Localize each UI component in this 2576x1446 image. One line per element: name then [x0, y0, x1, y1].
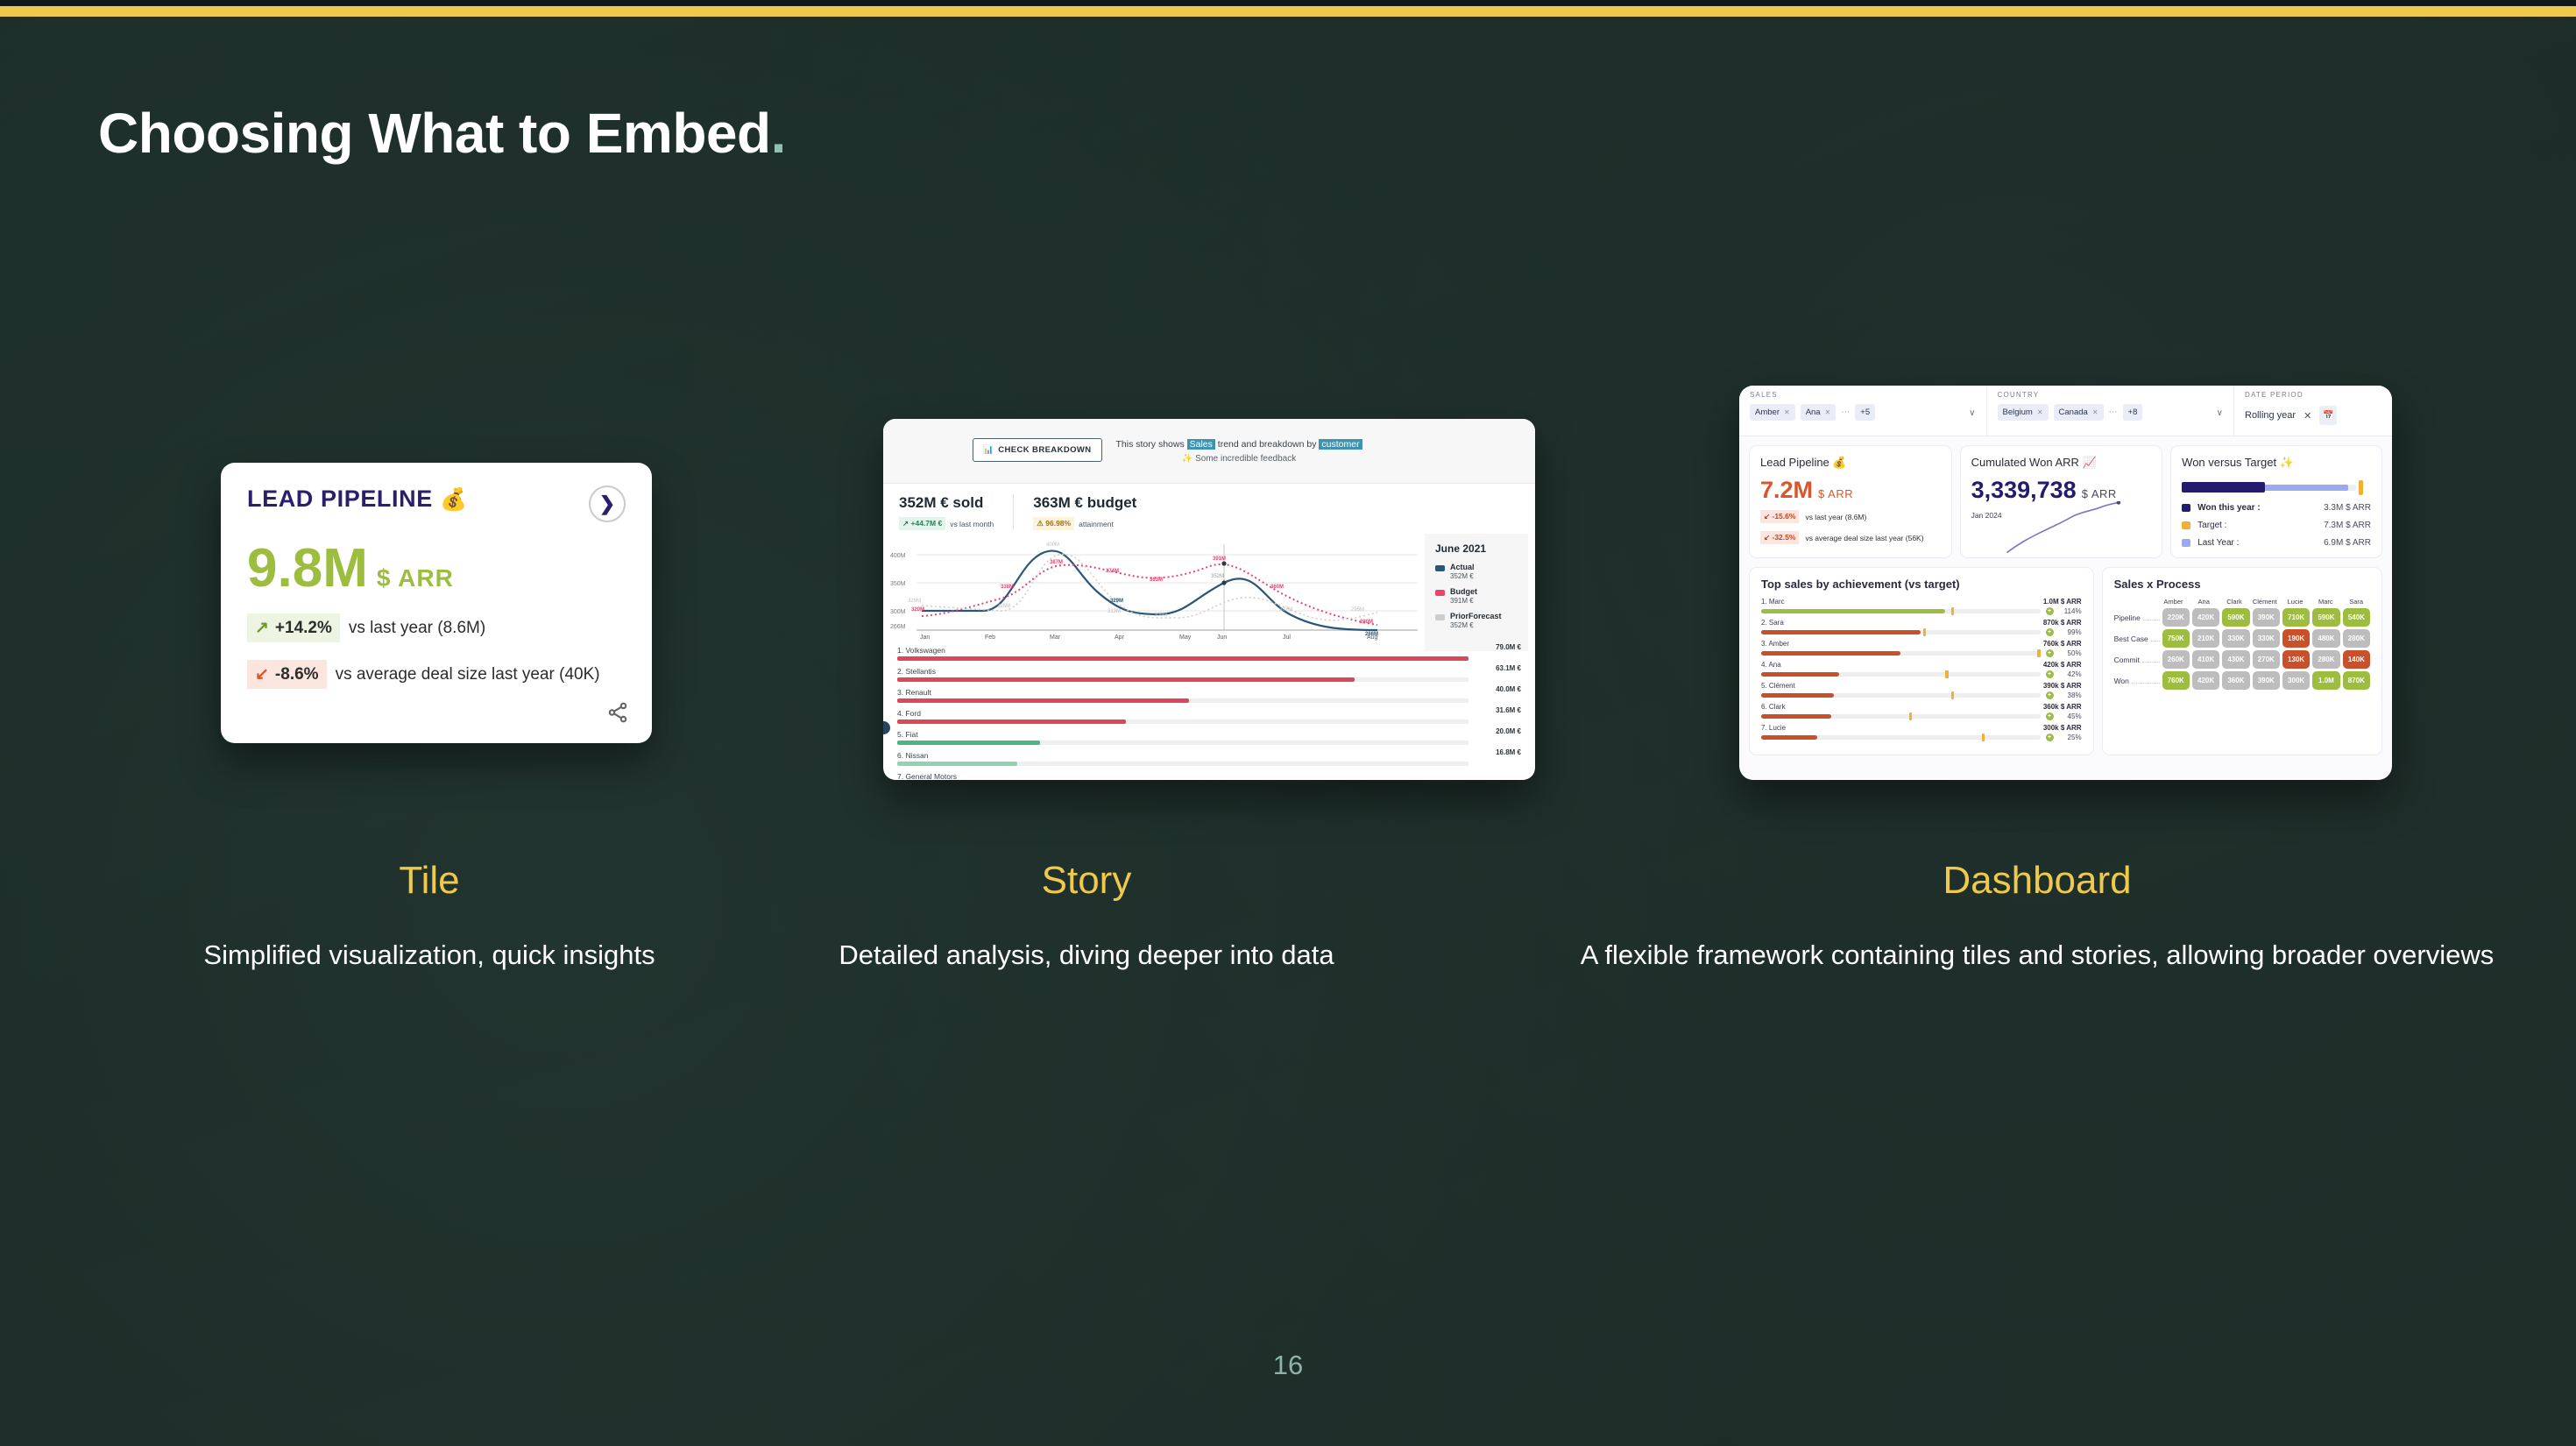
filter-date-value: Rolling year — [2245, 410, 2296, 421]
svg-text:400M: 400M — [1046, 542, 1059, 548]
panel-sales-x-process[interactable]: Sales x Process AmberAnaClarkClémentLuci… — [2102, 567, 2382, 755]
tile-lead-pipeline-delta-1-value: -15.6% — [1773, 512, 1796, 521]
page-title-text: Choosing What to Embed — [98, 102, 771, 165]
top-sales-row-head: 1. Marc1.0M $ ARR — [1761, 598, 2082, 606]
matrix-row-dotline — [2143, 620, 2160, 620]
story-bar-track — [897, 741, 1468, 745]
matrix-cell[interactable]: 1.0M — [2312, 671, 2339, 690]
page-title-dot: . — [771, 102, 786, 165]
svg-text:329M: 329M — [908, 599, 921, 604]
top-sales-fill — [1761, 735, 1817, 740]
story-kpi-budget-value: 363M € budget — [1033, 494, 1136, 512]
plus-icon[interactable]: + — [2046, 628, 2054, 636]
svg-text:329M: 329M — [1110, 599, 1123, 604]
page-number: 16 — [0, 1350, 2576, 1381]
svg-text:280M: 280M — [1360, 620, 1373, 625]
chart-increasing-icon: 📈 — [2083, 456, 2097, 469]
legend-name-actual: Actual — [1450, 563, 1475, 571]
matrix-column-header: Amber — [2160, 598, 2188, 606]
tile-cumulated-unit: $ ARR — [2082, 488, 2117, 500]
filter-sales-chips: Amber✕ Ana✕ ⋯ +5 — [1750, 404, 1976, 421]
arrow-down-icon: ↙ — [1764, 512, 1770, 521]
tile-delta-up-value: +14.2% — [275, 619, 332, 638]
top-sales-row: 3. Amber760k $ ARR+50% — [1761, 640, 2082, 657]
warning-icon: ⚠ — [1037, 519, 1044, 528]
matrix-cell[interactable]: 390K — [2253, 608, 2280, 627]
filter-country-more[interactable]: +8 — [2123, 404, 2143, 421]
story-bar-value: 16.8M € — [1496, 748, 1521, 756]
tile-title: LEAD PIPELINE 💰 — [247, 486, 468, 513]
banner-middle: trend and breakdown by — [1215, 439, 1320, 450]
plus-icon[interactable]: + — [2046, 734, 2054, 741]
story-kpi-budget-sub: ⚠ 96.98% attainment — [1033, 517, 1136, 530]
column-story-title: Story — [692, 859, 1481, 903]
share-icon[interactable] — [606, 701, 629, 724]
svg-text:391M: 391M — [1213, 556, 1226, 562]
sparkle-icon: ✨ — [2280, 456, 2294, 469]
top-sales-name: 4. Ana — [1761, 661, 1781, 669]
tile-lead-pipeline-metric: 7.2M $ ARR — [1760, 478, 1941, 502]
story-kpi-sold-label: vs last month — [950, 520, 994, 528]
top-sales-bar: +42% — [1761, 670, 2082, 678]
top-sales-track — [1761, 672, 2041, 677]
dashboard-preview-card[interactable]: SALES Amber✕ Ana✕ ⋯ +5 ∨ COUNTRY Belgium… — [1739, 386, 2392, 780]
close-icon[interactable]: ✕ — [2092, 408, 2098, 416]
story-banner-texts: This story shows Sales trend and breakdo… — [1116, 436, 1362, 464]
tile-won-target-title: Won versus Target ✨ — [2182, 456, 2371, 470]
top-sales-name: 7. Lucie — [1761, 724, 1786, 732]
top-sales-row: 4. Ana420k $ ARR+42% — [1761, 661, 2082, 678]
matrix-cell[interactable]: 750K — [2162, 629, 2190, 648]
won-target-legend-won: Won this year : 3.3M $ ARR — [2182, 503, 2371, 513]
story-banner: 📊 CHECK BREAKDOWN This story shows Sales… — [883, 419, 1535, 484]
story-kpi-sold-badge-value: +44.7M € — [911, 519, 943, 528]
story-bar-row: 3. Renault40.0M € — [897, 688, 1521, 703]
story-banner-feedback: ✨ Some incredible feedback — [1116, 454, 1362, 464]
matrix-cell[interactable]: 280K — [2343, 629, 2370, 648]
tile-metric: 9.8M $ ARR — [247, 542, 626, 596]
matrix-cell[interactable]: 480K — [2312, 629, 2339, 648]
dashboard-tile-cumulated-won-arr[interactable]: Cumulated Won ARR 📈 3,339,738 $ ARR Jan … — [1960, 445, 2163, 558]
bar-chart-icon: 📊 — [983, 445, 994, 455]
matrix-row-label-text: Best Case — [2114, 634, 2148, 643]
top-sales-row-head: 5. Clément390k $ ARR — [1761, 682, 2082, 690]
top-sales-rows: 1. Marc1.0M $ ARR+114%2. Sara870k $ ARR+… — [1761, 598, 2082, 741]
svg-text:350M: 350M — [890, 581, 906, 587]
story-chart-legend: June 2021 Actual 352M € Budget 391M € — [1425, 534, 1528, 651]
legend-value-target: 7.3M $ ARR — [2324, 521, 2371, 530]
won-target-progress — [2182, 479, 2371, 495]
panel-matrix-title: Sales x Process — [2114, 578, 2370, 591]
arrow-down-icon: ↙ — [1764, 533, 1770, 542]
top-sales-bar: +25% — [1761, 734, 2082, 741]
filter-country-label: COUNTRY — [1998, 391, 2224, 399]
legend-value-budget: 391M € — [1450, 597, 1477, 605]
tile-cumulated-sparkline — [1970, 501, 2159, 556]
tile-preview-card[interactable]: LEAD PIPELINE 💰 ❯ 9.8M $ ARR ↗ +14.2% vs… — [221, 463, 652, 743]
top-sales-fill — [1761, 609, 1945, 613]
dashboard-tile-won-versus-target[interactable]: Won versus Target ✨ Won this year : 3.3M… — [2170, 445, 2382, 558]
filter-country[interactable]: COUNTRY Belgium✕ Canada✕ ⋯ +8 ∨ — [1987, 386, 2235, 436]
svg-text:Jul: Jul — [1283, 634, 1291, 641]
column-story: Story Detailed analysis, diving deeper i… — [692, 859, 1481, 975]
slide-canvas: Choosing What to Embed. LEAD PIPELINE 💰 … — [0, 0, 2576, 1446]
arrow-down-icon: ↙ — [255, 664, 269, 684]
matrix-cell[interactable]: 870K — [2343, 671, 2370, 690]
matrix-row-label: Commit — [2114, 656, 2160, 664]
filter-chip-ana[interactable]: Ana✕ — [1801, 404, 1836, 421]
top-sales-target-marker — [1951, 691, 1955, 699]
matrix-cell[interactable]: 360K — [2222, 671, 2249, 690]
story-bar-label: 1. Volkswagen — [897, 646, 1521, 655]
tile-header: LEAD PIPELINE 💰 ❯ — [247, 486, 626, 522]
tile-title-text: LEAD PIPELINE — [247, 486, 433, 512]
top-dark-strip — [0, 0, 2576, 6]
tile-lead-pipeline-delta-2-value: -32.5% — [1773, 533, 1796, 542]
filter-date-period[interactable]: DATE PERIOD Rolling year ✕ 📅 — [2234, 386, 2392, 436]
top-sales-bar: +45% — [1761, 712, 2082, 720]
top-sales-row: 7. Lucie300k $ ARR+25% — [1761, 724, 2082, 741]
svg-text:360M: 360M — [1270, 585, 1284, 590]
filter-country-chips: Belgium✕ Canada✕ ⋯ +8 — [1998, 404, 2224, 421]
svg-text:266M: 266M — [1365, 632, 1378, 637]
top-sales-fill — [1761, 630, 1921, 634]
story-banner-sentence: This story shows Sales trend and breakdo… — [1116, 436, 1362, 454]
top-sales-track — [1761, 693, 2041, 698]
story-bar-row: 7. General Motors — [897, 772, 1521, 780]
legend-item-priorforecast: PriorForecast 352M € — [1435, 612, 1518, 629]
matrix-cell[interactable]: 260K — [2162, 650, 2190, 669]
story-bar-row: 1. Volkswagen79.0M € — [897, 646, 1521, 661]
legend-swatch-priorforecast — [1435, 614, 1445, 620]
svg-text:374M: 374M — [1106, 569, 1119, 574]
won-target-won-bar — [2182, 482, 2265, 493]
story-feedback-text: Some incredible feedback — [1195, 454, 1296, 464]
svg-text:295M: 295M — [1351, 607, 1364, 613]
story-kpi-budget-label: attainment — [1079, 520, 1114, 528]
chevron-down-icon[interactable]: ∨ — [2217, 408, 2223, 418]
matrix-row-label-text: Won — [2114, 677, 2129, 685]
matrix-row-dotline — [2142, 662, 2160, 663]
story-bar-fill — [897, 656, 1468, 661]
story-bar-track — [897, 677, 1468, 682]
matrix-cell[interactable]: 140K — [2343, 650, 2370, 669]
column-dashboard: Dashboard A flexible framework containin… — [1568, 859, 2506, 975]
svg-text:307M: 307M — [1279, 607, 1292, 613]
tile-delta-down: ↙ -8.6% vs average deal size last year (… — [247, 660, 626, 689]
tile-delta-up-text: vs last year (8.6M) — [349, 619, 485, 638]
top-sales-percent: 45% — [2059, 712, 2082, 720]
legend-swatch-target — [2182, 521, 2190, 529]
tile-lead-pipeline-delta-2: ↙ -32.5% vs average deal size last year … — [1760, 531, 1941, 544]
matrix-column-headers: AmberAnaClarkClémentLucieMarcSara — [2160, 598, 2370, 606]
calendar-icon[interactable]: 📅 — [2319, 406, 2337, 425]
chevron-right-icon[interactable]: ❯ — [589, 486, 626, 522]
close-icon[interactable]: ✕ — [2037, 408, 2043, 416]
filter-sales-more[interactable]: +5 — [1855, 404, 1875, 421]
story-bar-label: 3. Renault — [897, 688, 1521, 697]
matrix-row-label-text: Commit — [2114, 656, 2140, 664]
filter-chip-belgium[interactable]: Belgium✕ — [1998, 404, 2049, 421]
story-kpi-budget-badge-value: 96.98% — [1045, 519, 1071, 528]
tile-metric-value: 9.8M — [247, 542, 368, 596]
close-icon[interactable]: ✕ — [1784, 408, 1790, 416]
tile-delta-down-chip: ↙ -8.6% — [247, 660, 327, 689]
top-sales-name: 6. Clark — [1761, 703, 1786, 711]
top-sales-percent: 38% — [2059, 691, 2082, 699]
plus-icon[interactable]: + — [2046, 607, 2054, 615]
top-sales-track — [1761, 651, 2041, 656]
matrix-cell[interactable]: 410K — [2192, 650, 2219, 669]
tile-cumulated-metric: 3,339,738 $ ARR — [1971, 478, 2152, 502]
won-target-legend-lastyear: Last Year : 6.9M $ ARR — [2182, 538, 2371, 548]
top-sales-fill — [1761, 651, 1900, 656]
top-sales-row: 2. Sara870k $ ARR+99% — [1761, 619, 2082, 636]
matrix-cell[interactable]: 420K — [2192, 671, 2219, 690]
story-kpi-row: 352M € sold ↗ +44.7M € vs last month 363… — [883, 484, 1535, 534]
matrix-cell[interactable]: 280K — [2312, 650, 2339, 669]
matrix-cell[interactable]: 590K — [2312, 608, 2339, 627]
story-bar-value: 40.0M € — [1496, 685, 1521, 693]
story-bar-fill — [897, 762, 1017, 766]
filter-date-value-row: Rolling year ✕ 📅 — [2245, 406, 2381, 425]
legend-label-lastyear: Last Year : — [2197, 538, 2317, 548]
top-sales-bar: +99% — [1761, 628, 2082, 636]
top-sales-name: 2. Sara — [1761, 619, 1784, 627]
tile-cumulated-title-text: Cumulated Won ARR — [1971, 456, 2079, 469]
matrix-rows: Pipeline220K420K590K390K710K590K540KBest… — [2114, 608, 2370, 690]
top-sales-target-marker — [1923, 628, 1927, 636]
ellipsis-icon: ⋯ — [2109, 408, 2118, 417]
matrix-column-header: Clark — [2220, 598, 2248, 606]
top-sales-percent: 50% — [2059, 649, 2082, 657]
svg-text:Jun: Jun — [1217, 634, 1227, 641]
story-line-chart: 400M 350M 300M 266M Jan Feb Mar Apr May … — [887, 537, 1532, 641]
top-sales-value: 870k $ ARR — [2043, 619, 2082, 627]
tile-lead-pipeline-delta-1-text: vs last year (8.6M) — [1805, 513, 1866, 521]
matrix-row-dotline — [2151, 641, 2160, 641]
top-sales-bar: +38% — [1761, 691, 2082, 699]
story-kpi-budget: 363M € budget ⚠ 96.98% attainment — [1033, 494, 1156, 530]
filter-sales-label: SALES — [1750, 391, 1976, 399]
top-sales-percent: 25% — [2059, 734, 2082, 741]
check-breakdown-button[interactable]: 📊 CHECK BREAKDOWN — [973, 438, 1102, 462]
matrix-row-label: Best Case — [2114, 634, 2160, 643]
matrix-row: Best Case750K210K330K330K190K480K280K — [2114, 629, 2370, 648]
top-sales-name: 5. Clément — [1761, 682, 1795, 690]
tile-delta-down-text: vs average deal size last year (40K) — [336, 665, 600, 684]
svg-text:352M: 352M — [1211, 574, 1224, 579]
story-bar-row: 5. Fiat20.0M € — [897, 730, 1521, 745]
story-kpi-budget-badge: ⚠ 96.98% — [1033, 517, 1074, 530]
tile-delta-down-value: -8.6% — [275, 665, 319, 684]
column-dashboard-description: A flexible framework containing tiles an… — [1568, 936, 2506, 975]
top-sales-track — [1761, 735, 2041, 740]
matrix-cell[interactable]: 330K — [2222, 629, 2249, 648]
plus-icon[interactable]: + — [2046, 649, 2054, 657]
top-sales-value: 420k $ ARR — [2043, 661, 2082, 669]
top-sales-row: 6. Clark360k $ ARR+45% — [1761, 703, 2082, 720]
top-sales-target-marker — [1909, 712, 1913, 720]
story-bar-track — [897, 698, 1468, 703]
matrix-row: Commit260K410K430K270K130K280K140K — [2114, 650, 2370, 669]
tile-cumulated-value: 3,339,738 — [1971, 478, 2077, 502]
tile-lead-pipeline-delta-1: ↙ -15.6% vs last year (8.6M) — [1760, 510, 1941, 523]
story-bar-fill — [897, 741, 1040, 745]
matrix-column-header: Lucie — [2282, 598, 2310, 606]
legend-swatch-budget — [1435, 590, 1445, 596]
story-bar-label: 4. Ford — [897, 709, 1521, 718]
dashboard-filter-bar: SALES Amber✕ Ana✕ ⋯ +5 ∨ COUNTRY Belgium… — [1739, 386, 2392, 436]
svg-text:May: May — [1179, 634, 1192, 641]
matrix-row: Won760K420K360K390K300K1.0M870K — [2114, 671, 2370, 690]
filter-chip-amber[interactable]: Amber✕ — [1750, 404, 1795, 421]
matrix-column-header: Clément — [2251, 598, 2279, 606]
top-sales-value: 390k $ ARR — [2043, 682, 2082, 690]
story-bar-fill — [897, 719, 1126, 724]
top-sales-name: 3. Amber — [1761, 640, 1789, 648]
plus-icon[interactable]: + — [2046, 691, 2054, 699]
top-accent-bar — [0, 6, 2576, 17]
matrix-cell[interactable]: 270K — [2253, 650, 2280, 669]
tile-lead-pipeline-delta-1-chip: ↙ -15.6% — [1760, 510, 1799, 523]
tile-lead-pipeline-delta-2-chip: ↙ -32.5% — [1760, 531, 1799, 544]
dashboard-tile-lead-pipeline[interactable]: Lead Pipeline 💰 7.2M $ ARR ↙ -15.6% vs l… — [1749, 445, 1952, 558]
chevron-down-icon[interactable]: ∨ — [1969, 408, 1975, 418]
top-sales-track — [1761, 630, 2041, 634]
svg-text:338M: 338M — [1001, 585, 1014, 590]
tile-delta-up: ↗ +14.2% vs last year (8.6M) — [247, 613, 626, 642]
matrix-cell[interactable]: 390K — [2253, 671, 2280, 690]
top-sales-value: 360k $ ARR — [2043, 703, 2082, 711]
tile-lead-pipeline-unit: $ ARR — [1818, 488, 1853, 500]
matrix-column-header: Sara — [2342, 598, 2370, 606]
legend-value-actual: 352M € — [1450, 572, 1475, 580]
story-bar-label: 2. Stellantis — [897, 667, 1521, 676]
legend-swatch-lastyear — [2182, 539, 2190, 547]
matrix-cell[interactable]: 710K — [2282, 608, 2310, 627]
matrix-cell[interactable]: 430K — [2222, 650, 2249, 669]
top-sales-bar: +114% — [1761, 607, 2082, 615]
story-preview-card[interactable]: 📊 CHECK BREAKDOWN This story shows Sales… — [883, 419, 1535, 780]
legend-value-won: 3.3M $ ARR — [2324, 503, 2371, 513]
svg-text:387M: 387M — [1050, 560, 1063, 565]
matrix-cell[interactable]: 220K — [2162, 608, 2190, 627]
svg-text:313M: 313M — [1108, 609, 1121, 614]
page-title: Choosing What to Embed. — [98, 101, 786, 166]
tile-lead-pipeline-value: 7.2M — [1760, 478, 1813, 502]
legend-title: June 2021 — [1435, 542, 1518, 555]
matrix-cell[interactable]: 420K — [2192, 608, 2219, 627]
legend-swatch-won — [2182, 504, 2190, 512]
plus-icon[interactable]: + — [2046, 712, 2054, 720]
filter-date-label: DATE PERIOD — [2245, 391, 2381, 399]
filter-chip-ana-label: Ana — [1806, 408, 1821, 417]
filter-chip-canada[interactable]: Canada✕ — [2054, 404, 2104, 421]
story-customer-bars: 1. Volkswagen79.0M €2. Stellantis63.1M €… — [883, 641, 1535, 780]
top-sales-fill — [1761, 693, 1834, 698]
story-bar-row: 6. Nissan16.8M € — [897, 751, 1521, 766]
top-sales-target-marker — [2037, 649, 2041, 657]
top-sales-value: 1.0M $ ARR — [2043, 598, 2082, 606]
story-bar-value: 31.6M € — [1496, 706, 1521, 714]
banner-prefix: This story shows — [1116, 439, 1187, 450]
panel-top-sales-title: Top sales by achievement (vs target) — [1761, 578, 2082, 591]
top-sales-row-head: 6. Clark360k $ ARR — [1761, 703, 2082, 711]
story-bar-label: 5. Fiat — [897, 730, 1521, 739]
top-sales-value: 300k $ ARR — [2043, 724, 2082, 732]
story-bar-value: 63.1M € — [1496, 664, 1521, 672]
top-sales-row-head: 2. Sara870k $ ARR — [1761, 619, 2082, 627]
matrix-cell[interactable]: 590K — [2222, 608, 2249, 627]
plus-icon[interactable]: + — [2046, 670, 2054, 678]
matrix-cell[interactable]: 130K — [2282, 650, 2310, 669]
top-sales-track — [1761, 714, 2041, 719]
top-sales-percent: 99% — [2059, 628, 2082, 636]
story-bar-value: 20.0M € — [1496, 727, 1521, 735]
story-bar-row: 2. Stellantis63.1M € — [897, 667, 1521, 682]
column-story-description: Detailed analysis, diving deeper into da… — [692, 936, 1481, 975]
story-bar-track — [897, 762, 1468, 766]
story-kpi-sold-value: 352M € sold — [899, 494, 994, 512]
story-bar-row: 4. Ford31.6M € — [897, 709, 1521, 724]
won-target-marker — [2359, 480, 2363, 495]
legend-name-budget: Budget — [1450, 587, 1477, 596]
svg-text:325M: 325M — [997, 604, 1010, 609]
matrix-column-header: Marc — [2311, 598, 2339, 606]
svg-text:Mar: Mar — [1050, 634, 1061, 641]
matrix-cell[interactable]: 540K — [2343, 608, 2370, 627]
close-icon[interactable]: ✕ — [1825, 408, 1831, 416]
top-sales-row-head: 3. Amber760k $ ARR — [1761, 640, 2082, 648]
matrix-row-dotline — [2132, 683, 2160, 684]
arrow-up-icon: ↗ — [255, 618, 269, 638]
matrix-row-label: Won — [2114, 677, 2160, 685]
top-sales-row-head: 7. Lucie300k $ ARR — [1761, 724, 2082, 732]
story-bar-value: 79.0M € — [1496, 643, 1521, 651]
matrix-cell[interactable]: 330K — [2253, 629, 2280, 648]
panel-top-sales[interactable]: Top sales by achievement (vs target) 1. … — [1749, 567, 2094, 755]
tile-lead-pipeline-title-text: Lead Pipeline — [1760, 456, 1829, 469]
svg-text:320M: 320M — [911, 607, 924, 613]
tile-cumulated-title: Cumulated Won ARR 📈 — [1971, 456, 2152, 470]
legend-value-lastyear: 6.9M $ ARR — [2324, 538, 2371, 548]
filter-chip-belgium-label: Belgium — [2003, 408, 2033, 417]
top-sales-fill — [1761, 714, 1831, 719]
legend-item-actual: Actual 352M € — [1435, 563, 1518, 580]
filter-chip-amber-label: Amber — [1755, 408, 1780, 417]
top-sales-row: 5. Clément390k $ ARR+38% — [1761, 682, 2082, 699]
filter-sales[interactable]: SALES Amber✕ Ana✕ ⋯ +5 ∨ — [1739, 386, 1987, 436]
tile-won-target-title-text: Won versus Target — [2182, 456, 2276, 469]
top-sales-target-marker — [1951, 607, 1955, 615]
matrix-cell[interactable]: 300K — [2282, 671, 2310, 690]
story-bar-label: 7. General Motors — [897, 772, 1521, 780]
clear-icon[interactable]: ✕ — [2304, 410, 2311, 422]
svg-text:Feb: Feb — [985, 634, 995, 641]
matrix-cell[interactable]: 760K — [2162, 671, 2190, 690]
story-bar-track — [897, 656, 1468, 661]
money-bag-icon: 💰 — [1832, 456, 1846, 469]
story-bar-label: 6. Nissan — [897, 751, 1521, 760]
matrix-cell[interactable]: 210K — [2192, 629, 2219, 648]
top-sales-fill — [1761, 672, 1839, 677]
check-breakdown-label: CHECK BREAKDOWN — [998, 445, 1091, 455]
svg-text:300M: 300M — [890, 609, 906, 615]
top-sales-bar: +50% — [1761, 649, 2082, 657]
matrix-cell[interactable]: 190K — [2282, 629, 2310, 648]
tile-lead-pipeline-title: Lead Pipeline 💰 — [1760, 456, 1941, 470]
